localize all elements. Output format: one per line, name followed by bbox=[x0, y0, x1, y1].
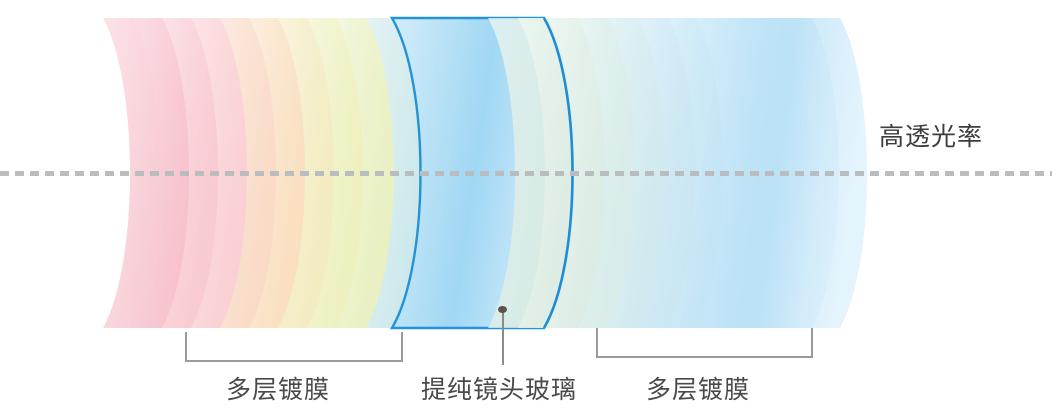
bracket-coating-right bbox=[596, 328, 813, 358]
label-coating-right: 多层镀膜 bbox=[646, 370, 750, 406]
label-high-transmittance: 高透光率 bbox=[879, 117, 983, 153]
label-coating-left: 多层镀膜 bbox=[226, 370, 330, 406]
core-glass-pointer-line bbox=[502, 311, 504, 365]
bracket-coating-left bbox=[185, 332, 403, 362]
lens-stack bbox=[0, 0, 1052, 419]
label-core-glass: 提纯镜头玻璃 bbox=[421, 370, 577, 406]
core-glass-pointer-dot bbox=[498, 306, 507, 313]
lens-stack-svg bbox=[0, 0, 1052, 419]
optical-axis-line bbox=[0, 171, 1052, 176]
diagram-canvas: 多层镀膜 提纯镜头玻璃 多层镀膜 高透光率 bbox=[0, 0, 1052, 419]
